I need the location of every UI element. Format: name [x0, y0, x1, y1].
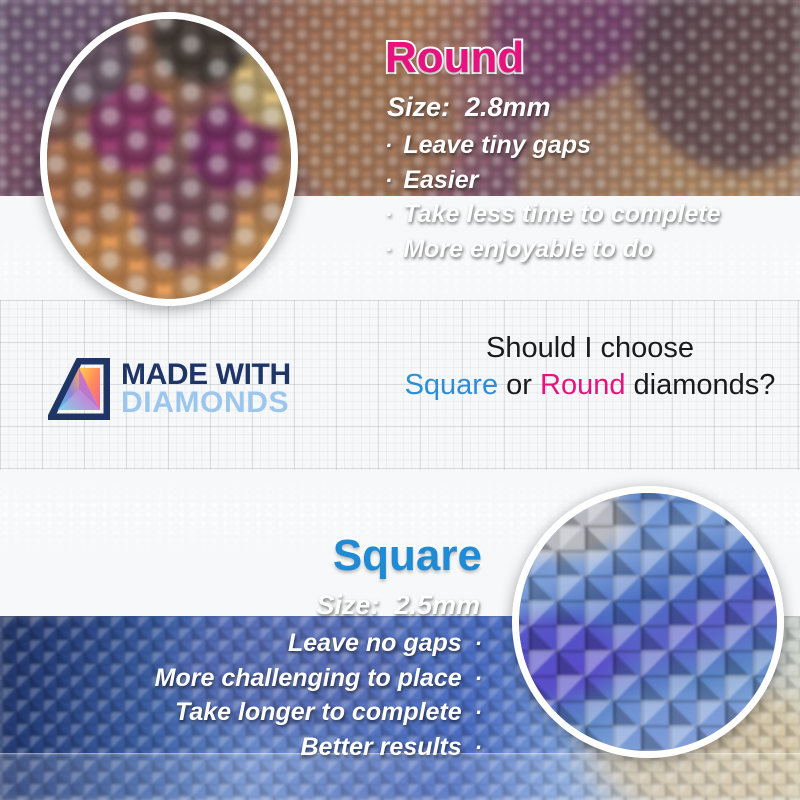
bullet-dot-icon: · — [475, 702, 482, 724]
bullet-dot-icon: · — [385, 239, 392, 261]
round-text-block: Round Size: 2.8mm · Leave tiny gaps · Ea… — [385, 36, 785, 266]
square-feature-label: More challenging to place — [155, 661, 462, 696]
square-magnifier-circle — [512, 486, 784, 758]
round-feature-label: Take less time to complete — [403, 197, 720, 232]
list-item: Take longer to complete · — [62, 695, 482, 730]
round-magnifier-circle — [40, 12, 298, 306]
round-magnifier-bead-texture-offset — [40, 12, 298, 306]
bullet-dot-icon: · — [475, 633, 482, 655]
brand-logo[interactable]: MADE WITH DIAMONDS — [48, 358, 291, 420]
square-feature-list: Leave no gaps · More challenging to plac… — [62, 626, 482, 764]
bullet-dot-icon: · — [475, 737, 482, 759]
question-headline: Should I choose Square or Round diamonds… — [380, 330, 800, 404]
list-item: · Take less time to complete — [385, 197, 785, 232]
question-word-round: Round — [540, 369, 625, 401]
round-feature-label: Easier — [403, 163, 478, 198]
logo-wordmark: MADE WITH DIAMONDS — [121, 361, 291, 417]
square-size-label: Size: 2.5mm — [62, 590, 482, 621]
list-item: · Easier — [385, 163, 785, 198]
infographic-root: Round Size: 2.8mm · Leave tiny gaps · Ea… — [0, 0, 800, 800]
round-feature-label: More enjoyable to do — [403, 232, 653, 267]
round-size-label: Size: 2.8mm — [385, 92, 785, 123]
square-heading: Square — [62, 534, 482, 578]
list-item: More challenging to place · — [62, 661, 482, 696]
round-heading: Round — [385, 36, 785, 80]
question-line-2: Square or Round diamonds? — [380, 367, 800, 404]
question-word-diamonds: diamonds? — [625, 369, 775, 401]
square-feature-label: Better results — [301, 730, 462, 765]
bullet-dot-icon: · — [385, 170, 392, 192]
list-item: · More enjoyable to do — [385, 232, 785, 267]
bullet-dot-icon: · — [385, 135, 392, 157]
question-word-square: Square — [405, 369, 499, 401]
square-text-block: Square Size: 2.5mm Leave no gaps · More … — [62, 534, 482, 764]
logo-line-diamonds: DIAMONDS — [121, 389, 291, 417]
question-line-1: Should I choose — [380, 330, 800, 367]
round-feature-list: · Leave tiny gaps · Easier · Take less t… — [385, 128, 785, 266]
diamond-prism-icon — [48, 358, 110, 420]
question-word-or: or — [498, 369, 540, 401]
list-item: Better results · — [62, 730, 482, 765]
bullet-dot-icon: · — [475, 668, 482, 690]
square-feature-label: Take longer to complete — [175, 695, 462, 730]
bullet-dot-icon: · — [385, 204, 392, 226]
square-magnifier-bead-texture-offset — [512, 486, 784, 758]
round-feature-label: Leave tiny gaps — [403, 128, 591, 163]
list-item: · Leave tiny gaps — [385, 128, 785, 163]
logo-line-made-with: MADE WITH — [121, 361, 291, 389]
square-feature-label: Leave no gaps — [288, 626, 462, 661]
list-item: Leave no gaps · — [62, 626, 482, 661]
